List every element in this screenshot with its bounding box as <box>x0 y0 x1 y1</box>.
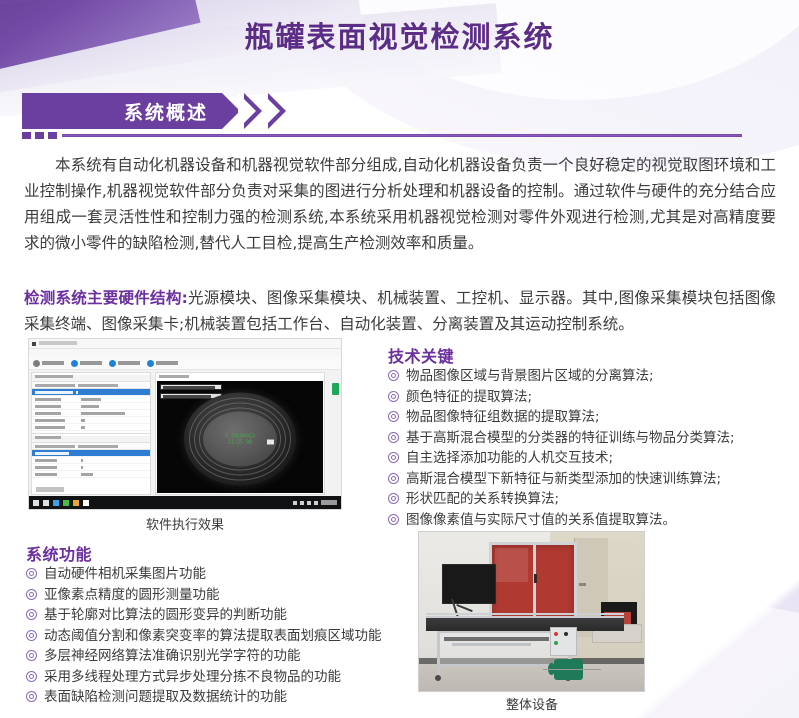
software-screenshot: 0 20160013 21:25 98 <box>28 338 342 510</box>
list-item-label: 物品图像区域与背景图片区域的分离算法; <box>406 366 654 386</box>
double-circle-bullet-icon <box>26 630 37 641</box>
list-item: 图像像素值与实际尺寸值的关系值提取算法。 <box>388 510 788 530</box>
double-circle-bullet-icon <box>26 589 37 600</box>
taskbar-item <box>43 500 49 506</box>
section-banner: 系统概述 <box>22 93 222 129</box>
taskbar-item <box>73 500 79 506</box>
slide-page: 瓶罐表面视觉检测系统 系统概述 本系统有自动化机器设备和机器视觉软件部分组成,自… <box>0 0 799 718</box>
list-item-label: 自动硬件相机采集图片功能 <box>44 564 206 584</box>
chevron-spacer-2 <box>262 93 280 129</box>
control-box <box>550 627 577 656</box>
list-item-label: 基于轮廓对比算法的圆形变异的判断功能 <box>44 605 287 625</box>
list-item: 物品图像区域与背景图片区域的分离算法; <box>388 366 788 386</box>
section-banner-bar: 系统概述 <box>22 93 222 129</box>
software-figure-caption: 软件执行效果 <box>28 514 342 533</box>
parameter-row <box>32 396 150 403</box>
list-item-label: 颜色特征的提取算法; <box>406 387 532 407</box>
conveyor-rail <box>426 613 624 615</box>
taskbar-item <box>53 500 59 506</box>
equipment-photo <box>418 531 645 692</box>
list-item: 基于高斯混合模型的分类器的特征训练与物品分类算法; <box>388 428 788 448</box>
divider-square-1 <box>22 132 31 139</box>
toolbar-button-2 <box>71 360 102 367</box>
result-row <box>32 457 150 464</box>
chevron-spacer-1 <box>238 93 256 129</box>
control-button-green <box>554 641 558 645</box>
app-toolbar <box>29 357 341 370</box>
list-item-label: 采用多线程处理方式异步处理分拣不良物品的功能 <box>44 667 341 687</box>
toolbar-button-1 <box>33 360 64 367</box>
result-row <box>32 464 150 471</box>
list-item-label: 高斯混合模型下新特征与新类型添加的快速训练算法; <box>406 469 721 489</box>
conveyor-belt <box>426 616 624 630</box>
toolbar-icon-1 <box>33 360 40 367</box>
section-divider <box>22 131 742 139</box>
window-controls <box>315 342 337 346</box>
result-panel-header <box>32 436 150 443</box>
list-item-label: 基于高斯混合模型的分类器的特征训练与物品分类算法; <box>406 428 735 448</box>
system-tray <box>293 500 337 505</box>
toolbar-icon-2 <box>71 360 78 367</box>
enclosure-glare <box>495 548 528 583</box>
double-circle-bullet-icon <box>388 411 399 422</box>
list-item: 自主选择添加功能的人机交互技术; <box>388 448 788 468</box>
side-status-indicator <box>332 383 339 395</box>
list-item-label: 物品图像特征组数据的提取算法; <box>406 407 600 427</box>
parameter-panel-header <box>32 375 150 382</box>
toolbar-button-3 <box>109 360 140 367</box>
function-section-title: 系统功能 <box>26 541 92 565</box>
double-circle-bullet-icon <box>26 671 37 682</box>
overview-paragraph: 本系统有自动化机器设备和机器视觉软件部分组成,自动化机器设备负责一个良好稳定的视… <box>24 152 776 256</box>
windows-taskbar <box>29 496 341 509</box>
control-button-red <box>554 632 558 636</box>
app-title-text <box>39 341 77 345</box>
list-item: 高斯混合模型下新特征与新类型添加的快速训练算法; <box>388 469 788 489</box>
taskbar-item <box>83 500 89 506</box>
list-item: 基于轮廓对比算法的圆形变异的判断功能 <box>26 605 426 625</box>
equipment-figure-caption: 整体设备 <box>412 694 652 713</box>
app-menu-bar <box>29 349 341 357</box>
list-item: 亚像素点精度的圆形测量功能 <box>26 585 426 605</box>
taskbar-item <box>33 500 39 506</box>
double-circle-bullet-icon <box>388 432 399 443</box>
double-circle-bullet-icon <box>388 473 399 484</box>
parameter-row <box>32 403 150 410</box>
list-item-label: 形状匹配的关系转换算法; <box>406 489 559 509</box>
double-circle-bullet-icon <box>388 493 399 504</box>
double-circle-bullet-icon <box>26 609 37 620</box>
image-canvas: 0 20160013 21:25 98 <box>157 381 323 493</box>
cap-date-code: 0 20160013 21:25 98 <box>225 433 255 445</box>
parameter-row <box>32 417 150 424</box>
list-item: 表面缺陷检测问题提取及数据统计的功能 <box>26 687 426 707</box>
double-circle-bullet-icon <box>388 370 399 381</box>
list-item-label: 亚像素点精度的圆形测量功能 <box>44 585 220 605</box>
overlay-label-1 <box>160 384 222 390</box>
double-circle-bullet-icon <box>26 568 37 579</box>
list-item: 自动硬件相机采集图片功能 <box>26 564 426 584</box>
list-item: 多层神经网络算法准确识别光学字符的功能 <box>26 646 426 666</box>
divider-square-3 <box>48 132 57 139</box>
taskbar-item <box>63 500 69 506</box>
list-item-label: 图像像素值与实际尺寸值的关系值提取算法。 <box>406 510 676 530</box>
status-button <box>36 487 64 492</box>
list-item: 动态阈值分割和像素突变率的算法提取表面划痕区域功能 <box>26 626 426 646</box>
image-view-panel: 0 20160013 21:25 98 <box>155 372 325 495</box>
bottle-cap-object: 0 20160013 21:25 98 <box>184 393 296 486</box>
monitor-display <box>442 564 496 604</box>
parameter-grid-header <box>32 382 150 389</box>
result-grid-header <box>32 443 150 450</box>
cap-highlight-marker <box>267 439 274 444</box>
list-item: 形状匹配的关系转换算法; <box>388 489 788 509</box>
hardware-structure-block: 检测系统主要硬件结构:光源模块、图像采集模块、机械装置、工控机、显示器。其中,图… <box>24 285 776 337</box>
section-banner-label: 系统概述 <box>124 98 208 125</box>
divider-line <box>62 134 742 137</box>
list-item-label: 多层神经网络算法准确识别光学字符的功能 <box>44 646 301 666</box>
parameter-row <box>32 410 150 417</box>
table-leg <box>437 631 440 679</box>
result-panel <box>31 433 151 495</box>
taskbar-clock <box>321 500 337 505</box>
control-button-black <box>564 632 568 636</box>
cap-face: 0 20160013 21:25 98 <box>203 412 277 467</box>
power-cord <box>543 669 602 670</box>
list-item: 物品图像特征组数据的提取算法; <box>388 407 788 427</box>
list-item: 颜色特征的提取算法; <box>388 387 788 407</box>
parameter-row <box>32 389 150 396</box>
table-caster <box>435 675 441 681</box>
double-circle-bullet-icon <box>388 514 399 525</box>
photo-floor <box>419 664 644 691</box>
list-item: 采用多线程处理方式异步处理分拣不良物品的功能 <box>26 667 426 687</box>
double-circle-bullet-icon <box>388 452 399 463</box>
tech-section-title: 技术关键 <box>388 343 454 367</box>
list-item-label: 自主选择添加功能的人机交互技术; <box>406 448 613 468</box>
app-icon <box>32 342 36 346</box>
toolbar-icon-4 <box>147 360 154 367</box>
toolbar-icon-3 <box>109 360 116 367</box>
page-title: 瓶罐表面视觉检测系统 <box>0 14 799 56</box>
app-title-bar <box>29 339 341 349</box>
divider-square-2 <box>35 132 44 139</box>
enclosure-divider <box>533 545 536 622</box>
enclosure-handle <box>534 574 537 583</box>
parameter-row <box>32 424 150 431</box>
result-row <box>32 450 150 457</box>
toolbar-button-4 <box>147 360 178 367</box>
table-shelf-upper <box>444 637 549 641</box>
double-circle-bullet-icon <box>26 650 37 661</box>
inspection-enclosure <box>489 542 577 625</box>
tech-key-list: 物品图像区域与背景图片区域的分离算法; 颜色特征的提取算法; 物品图像特征组数据… <box>388 366 788 530</box>
double-circle-bullet-icon <box>26 691 37 702</box>
list-item-label: 动态阈值分割和像素突变率的算法提取表面划痕区域功能 <box>44 626 382 646</box>
system-function-list: 自动硬件相机采集图片功能 亚像素点精度的圆形测量功能 基于轮廓对比算法的圆形变异… <box>26 564 426 708</box>
double-circle-bullet-icon <box>388 391 399 402</box>
result-row <box>32 471 150 478</box>
hardware-structure-label: 检测系统主要硬件结构: <box>24 289 188 307</box>
table-shelf-lower <box>452 643 531 645</box>
list-item-label: 表面缺陷检测问题提取及数据统计的功能 <box>44 687 287 707</box>
